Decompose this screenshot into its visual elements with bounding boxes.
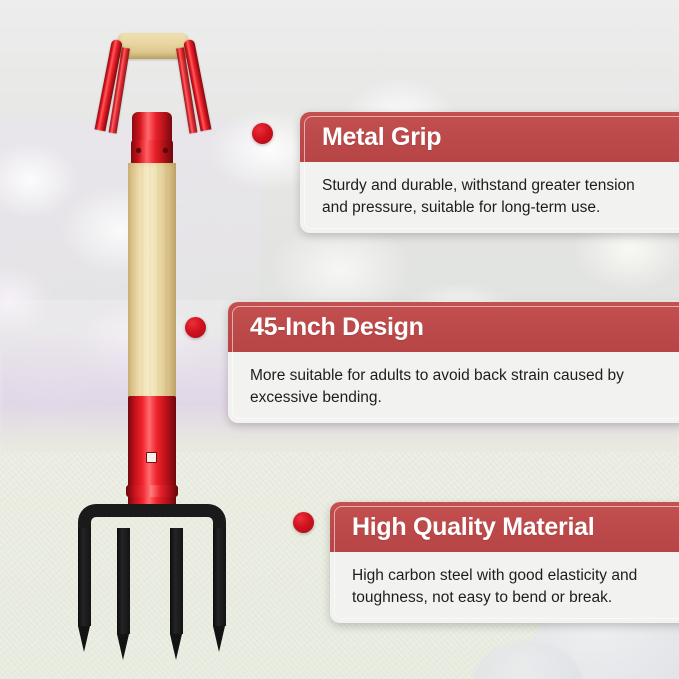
callout-body-line1-45-inch-design: More suitable for adults to avoid back s… xyxy=(250,365,679,387)
callout-body-line2-45-inch-design: excessive bending. xyxy=(250,387,679,409)
callout-dot-high-quality-material xyxy=(293,512,314,533)
callout-body-line2-metal-grip: and pressure, suitable for long-term use… xyxy=(322,197,679,219)
tine-crown xyxy=(78,504,226,546)
tine-3-tip xyxy=(170,634,182,660)
callout-dot-metal-grip xyxy=(252,123,273,144)
tine-2-tip xyxy=(117,634,129,660)
callout-card-high-quality-material[interactable]: High Quality Material High carbon steel … xyxy=(330,502,679,623)
callout-body-line1-high-quality-material: High carbon steel with good elasticity a… xyxy=(352,565,679,587)
tine-4-tip xyxy=(213,626,225,652)
callout-header-metal-grip: Metal Grip xyxy=(300,112,679,162)
callout-card-45-inch-design[interactable]: 45-Inch Design More suitable for adults … xyxy=(228,302,679,423)
callout-title-45-inch-design: 45-Inch Design xyxy=(250,315,424,340)
handle-rivet-left xyxy=(136,148,141,153)
tine-3 xyxy=(170,528,183,634)
callout-header-high-quality-material: High Quality Material xyxy=(330,502,679,552)
tine-2 xyxy=(117,528,130,634)
callout-card-metal-grip[interactable]: Metal Grip Sturdy and durable, withstand… xyxy=(300,112,679,233)
callout-body-line2-high-quality-material: toughness, not easy to bend or break. xyxy=(352,587,679,609)
product-infographic: Metal Grip Sturdy and durable, withstand… xyxy=(0,0,679,679)
ferrule-lip xyxy=(126,485,178,497)
tine-4 xyxy=(213,528,226,626)
callout-body-metal-grip: Sturdy and durable, withstand greater te… xyxy=(300,162,679,233)
wood-shaft-grain xyxy=(128,163,176,401)
handle-rivet-right xyxy=(163,148,168,153)
ferrule-bolt xyxy=(146,452,157,463)
callout-title-metal-grip: Metal Grip xyxy=(322,125,441,150)
callout-header-45-inch-design: 45-Inch Design xyxy=(228,302,679,352)
tine-1-tip xyxy=(78,626,90,652)
callout-dot-45-inch-design xyxy=(185,317,206,338)
tine-1 xyxy=(78,528,91,626)
callout-body-line1-metal-grip: Sturdy and durable, withstand greater te… xyxy=(322,175,679,197)
callout-title-high-quality-material: High Quality Material xyxy=(352,515,594,540)
callout-body-high-quality-material: High carbon steel with good elasticity a… xyxy=(330,552,679,623)
callout-body-45-inch-design: More suitable for adults to avoid back s… xyxy=(228,352,679,423)
